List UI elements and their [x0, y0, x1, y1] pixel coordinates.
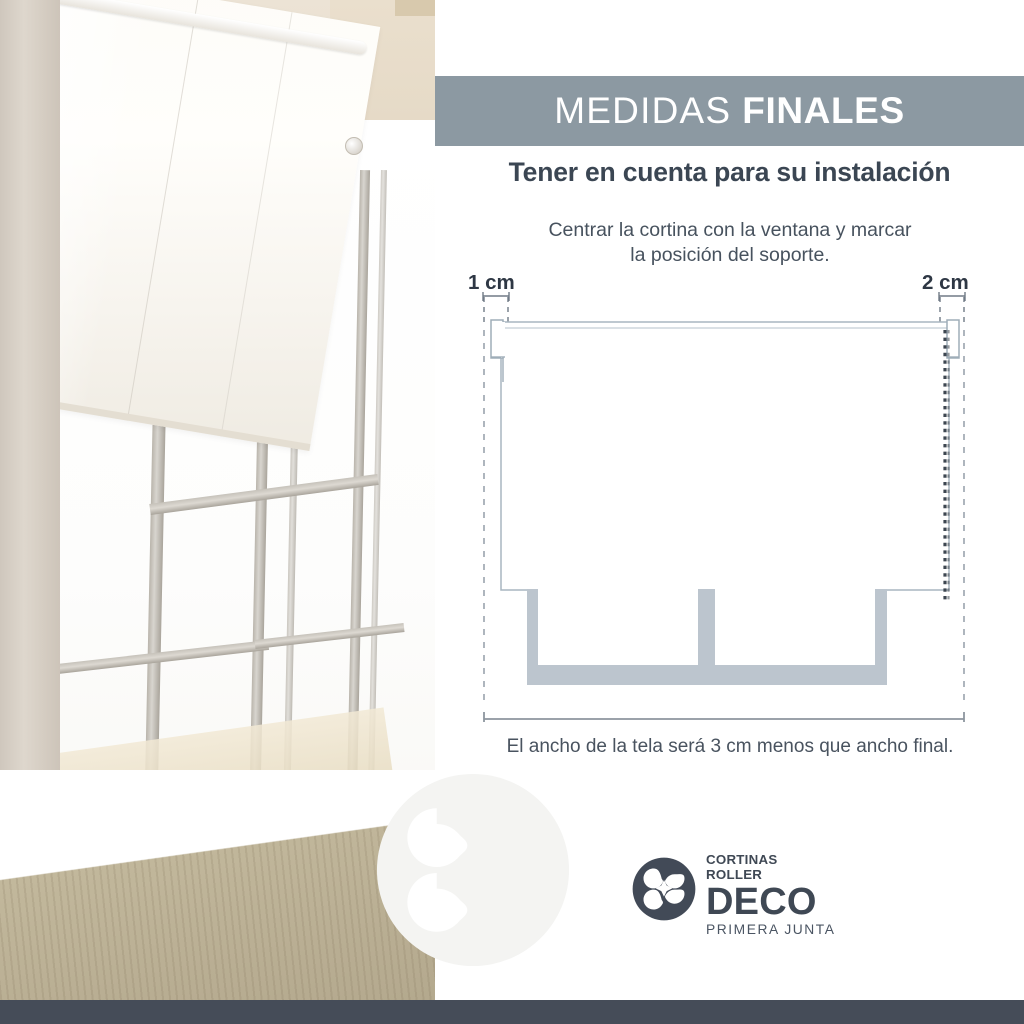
blind-fabric-rect: [501, 322, 949, 590]
roller-blind-seam-2: [221, 12, 293, 436]
roller-blind-endcap: [345, 137, 363, 155]
logo-top-text: CORTINAS ROLLER: [706, 852, 836, 882]
photo-ceiling-strip: [395, 0, 435, 16]
logo-emblem-icon: [632, 857, 696, 921]
installation-diagram: [435, 0, 1024, 1000]
logo-bottom-text: PRIMERA JUNTA: [706, 922, 836, 938]
photo-floor: [0, 770, 435, 1000]
logo-wordmark: CORTINAS ROLLER DECO PRIMERA JUNTA: [706, 852, 836, 938]
overall-width-dimension: [484, 712, 964, 722]
product-photo: [0, 0, 435, 1000]
fabric-width-note: El ancho de la tela será 3 cm menos que …: [440, 736, 1020, 758]
footer-bar: [0, 1000, 1024, 1024]
logo-main-text: DECO: [706, 882, 836, 922]
dim-guide-left: [483, 292, 509, 322]
window-frame: [527, 589, 887, 685]
photo-floor-mask: [0, 770, 435, 1000]
dim-guide-right: [939, 292, 965, 322]
brand-logo: CORTINAS ROLLER DECO PRIMERA JUNTA: [632, 852, 832, 928]
left-bracket-icon: [491, 320, 505, 382]
poster-root: MEDIDAS FINALES Tener en cuenta para su …: [0, 0, 1024, 1024]
